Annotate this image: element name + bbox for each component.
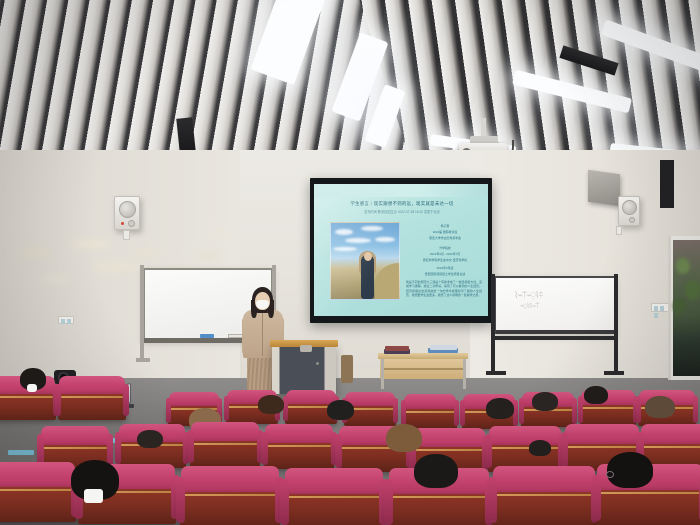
seat-armrest (401, 400, 406, 426)
seat-back (0, 487, 76, 522)
table-shelf (382, 368, 464, 370)
auditorium-seat[interactable] (190, 422, 260, 467)
speaker-bracket (123, 230, 130, 240)
wall-scuff (18, 248, 52, 258)
slide-title: 学生感言｜现实跟想不到的远，现实就是未达一切 (326, 201, 478, 207)
switch-toggle[interactable] (654, 313, 658, 318)
seat-back (190, 441, 260, 467)
audience-member-right-b (486, 398, 514, 419)
presenter-coat-seam (262, 312, 263, 356)
seat-back (58, 394, 126, 420)
cloud-shape (335, 229, 353, 235)
face-mask-icon (27, 384, 37, 392)
photo-person-head (364, 252, 372, 261)
auditorium-seat[interactable] (0, 462, 76, 522)
seat-armrest (636, 396, 641, 423)
whiteboard-erased-writing: ⌇⌁⍑⌁⍜⌇⍏ (514, 290, 543, 301)
switch-toggle[interactable] (660, 306, 664, 311)
slide-right-line-5: 2021年9月 - 2022年7月 (412, 252, 478, 256)
slide-right-line-8: 悉尼国际经贸硕士学位项目在读 (412, 272, 478, 276)
speaker-tweeter-icon (128, 220, 135, 227)
stacked-books-left (385, 346, 409, 351)
wall-scuff (70, 240, 112, 248)
slide-paragraph: 我是不同的原因大三我是个有着非常了一些经验和方法，完成学习课程，通过二次申请，得… (406, 280, 482, 297)
wall-scuff (40, 276, 70, 282)
seat-armrest (384, 479, 393, 525)
seat-back (596, 490, 700, 525)
speaker-cone-icon (119, 201, 136, 218)
photo-person-body (361, 255, 374, 299)
whiteboard-right-foot (486, 371, 506, 375)
foliage-shape (676, 258, 690, 274)
wall-dark-panel (660, 160, 674, 208)
speaker-cone-icon (622, 200, 637, 215)
whiteboard-right-tray (496, 330, 614, 334)
face-mask-icon (84, 489, 102, 503)
seat-armrest (123, 384, 129, 417)
slide-right-line-2: 2022届 国际教育班 (412, 230, 478, 234)
seat-armrest (224, 396, 229, 421)
seat-armrest (578, 396, 583, 423)
whiteboard-erased-writing: ⌁⍜⌇⍏⌁⍑ (520, 302, 538, 311)
wall-scuff (196, 252, 222, 260)
slide-top-band (314, 184, 488, 197)
whiteboard-right-leg (491, 274, 495, 374)
slide-right-line-3: 悉尼大学学业优秀奖学金 (412, 236, 478, 240)
whiteboard-left-foot (136, 358, 150, 362)
cloud-shape (361, 226, 383, 231)
seat-armrest (561, 432, 568, 467)
whiteboard-left-leg (140, 265, 144, 361)
lecture-hall-photo: 学生感言｜现实跟想不到的远，现实就是未达一切 发布时间 教务处招生办 2022-… (0, 0, 700, 525)
side-window-glass (673, 240, 700, 376)
wall-scuff (212, 230, 230, 236)
table-leg (463, 359, 466, 389)
seat-back (284, 494, 384, 525)
folding-desk-tablet[interactable] (8, 450, 34, 455)
wall-speaker-left (114, 196, 140, 230)
seat-armrest (488, 477, 497, 523)
seat-armrest (261, 432, 267, 465)
podium-control-button[interactable] (316, 362, 319, 365)
projection-screen: 学生感言｜现实跟想不到的远，现实就是未达一切 发布时间 教务处招生办 2022-… (310, 178, 492, 323)
slide-right-line-4: 升学院校 (412, 246, 478, 250)
whiteboard-right-crossbar (491, 336, 618, 340)
seat-armrest (166, 398, 171, 423)
auditorium-seat[interactable] (58, 376, 126, 420)
whiteboard-right-foot (604, 371, 624, 375)
seat-armrest (693, 396, 698, 423)
audience-member-back-left (137, 430, 163, 448)
podium-mic (300, 345, 312, 352)
seat-armrest (176, 477, 185, 523)
slide-photo (330, 222, 400, 300)
whiteboard-marker[interactable] (200, 334, 214, 338)
seat-armrest (55, 384, 61, 417)
cardboard-box (341, 355, 353, 383)
seat-armrest (393, 398, 398, 423)
audience-member-right-d (584, 386, 608, 404)
seat-armrest (115, 432, 121, 465)
ceiling-duct (176, 117, 195, 152)
eyeglasses-icon (606, 471, 614, 478)
seat-back (0, 394, 56, 420)
seat-armrest (283, 396, 288, 421)
auditorium-seat[interactable] (492, 466, 596, 525)
speaker-bracket-right (616, 226, 622, 235)
light-switch-panel[interactable] (651, 303, 669, 312)
cloud-shape (375, 237, 395, 242)
seat-armrest (280, 479, 289, 525)
wall-speaker-right (618, 196, 640, 226)
seat-back (180, 492, 280, 525)
foliage-shape (685, 280, 700, 300)
auditorium-seat[interactable] (180, 466, 280, 525)
slide-right-line-7: 2022年9月起 (412, 266, 478, 270)
audience-member-center-b (327, 400, 354, 420)
cloud-shape (333, 247, 357, 251)
switch-toggle[interactable] (67, 319, 71, 324)
seat-armrest (572, 398, 577, 424)
auditorium-seat[interactable] (284, 468, 384, 525)
auditorium-seat[interactable] (264, 424, 334, 469)
hillside-shape (375, 263, 400, 299)
audience-member-center-c (386, 424, 422, 452)
slide-subtitle: 发布时间 教务处招生办 2022-07-28 16:20 发表于北京 (326, 210, 478, 215)
light-switch-panel-left[interactable] (58, 316, 74, 324)
slide-right-line-6: 悉尼商学院学生会中文·经济双学位 (412, 258, 478, 262)
whiteboard-right: ⌇⌁⍑⌁⍜⌇⍏ ⌁⍜⌇⍏⌁⍑ (494, 276, 616, 334)
whiteboard-right-leg (614, 274, 618, 374)
audience-member-right-c (532, 392, 558, 411)
projected-slide: 学生感言｜现实跟想不到的远，现实就是未达一切 发布时间 教务处招生办 2022-… (314, 184, 488, 316)
switch-toggle[interactable] (61, 319, 65, 324)
cloud-shape (345, 238, 371, 243)
speaker-tweeter-icon (629, 217, 635, 223)
wall-scuff (600, 258, 622, 265)
seat-armrest (460, 400, 465, 426)
ceiling-air-vent (588, 170, 620, 206)
audience-member-far-right (607, 452, 653, 488)
auditorium-seat[interactable] (403, 394, 457, 429)
wall-scuff (90, 262, 140, 271)
audience-member-center-a (258, 395, 284, 414)
audience-member-right-a (414, 454, 458, 488)
seat-back (580, 405, 636, 426)
seat-back (388, 494, 490, 525)
seat-armrest (187, 430, 193, 463)
switch-toggle[interactable] (654, 306, 658, 311)
seat-armrest (519, 398, 524, 424)
speaker-led-icon (121, 222, 124, 225)
seat-armrest (454, 400, 459, 426)
seat-back (492, 492, 596, 525)
audience-member-right-e (645, 396, 675, 418)
audience-member-edge (529, 440, 551, 456)
stacked-books-right (430, 345, 457, 350)
table-leg (381, 359, 384, 389)
slide-right-line-1: 杨子惠 (412, 224, 478, 228)
wall-scuff (130, 250, 160, 257)
seat-armrest (485, 434, 492, 468)
seat-armrest (335, 434, 341, 468)
seat-armrest (513, 400, 518, 426)
foliage-shape (673, 298, 686, 314)
seat-armrest (592, 475, 602, 521)
